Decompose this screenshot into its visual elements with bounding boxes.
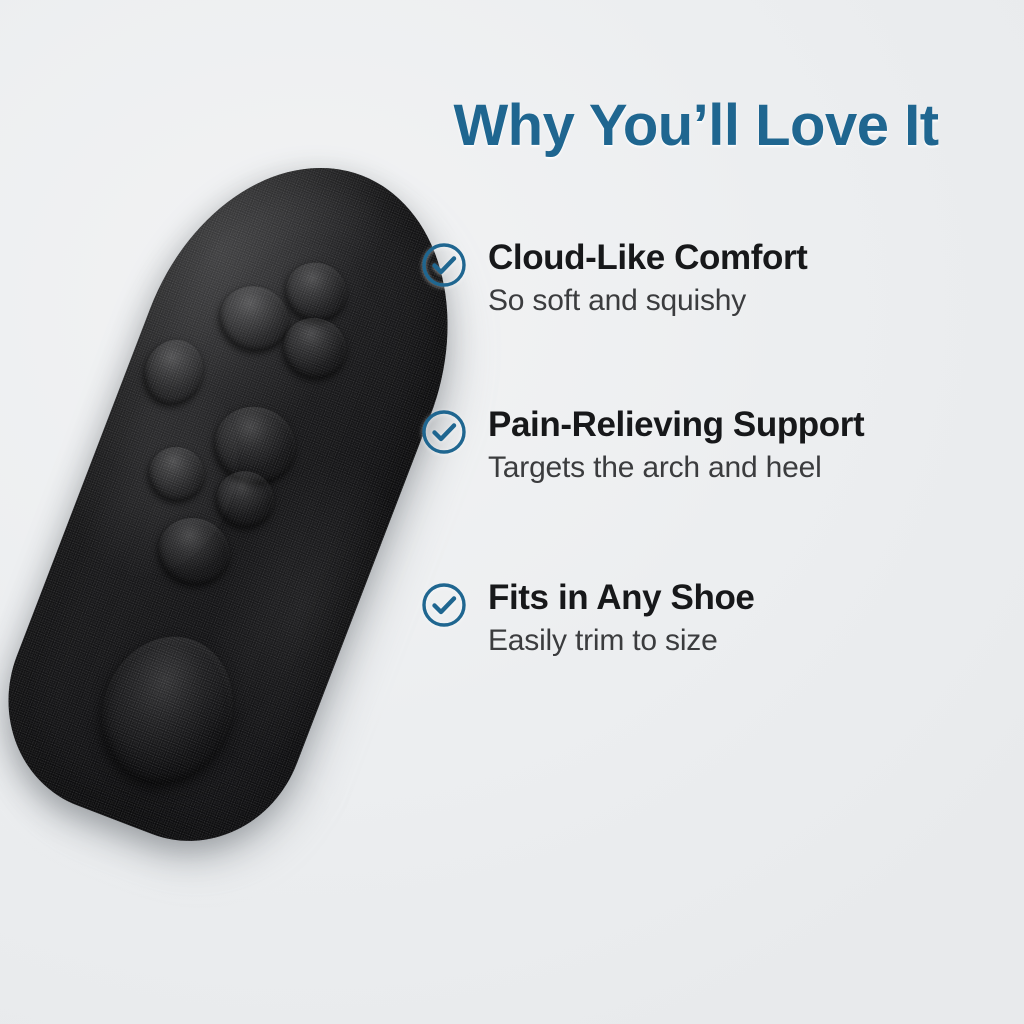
feature-text-block: Fits in Any Shoe Easily trim to size [488, 578, 1020, 659]
feature-item: Fits in Any Shoe Easily trim to size [420, 578, 1020, 659]
page-title: Why You’ll Love It [404, 96, 988, 157]
feature-subtitle: So soft and squishy [488, 283, 1020, 319]
feature-subtitle: Targets the arch and heel [488, 450, 1020, 486]
feature-item: Pain-Relieving Support Targets the arch … [420, 405, 1020, 486]
check-circle-icon [420, 581, 468, 629]
content-column: Why You’ll Love It Cloud-Like Comfort So… [404, 0, 1024, 1024]
feature-title: Pain-Relieving Support [488, 405, 1020, 444]
infographic-canvas: Why You’ll Love It Cloud-Like Comfort So… [0, 0, 1024, 1024]
feature-title: Fits in Any Shoe [488, 578, 1020, 617]
feature-title: Cloud-Like Comfort [488, 238, 1020, 277]
feature-item: Cloud-Like Comfort So soft and squishy [420, 238, 1020, 319]
feature-text-block: Cloud-Like Comfort So soft and squishy [488, 238, 1020, 319]
check-circle-icon [420, 241, 468, 289]
check-circle-icon [420, 408, 468, 456]
feature-text-block: Pain-Relieving Support Targets the arch … [488, 405, 1020, 486]
feature-subtitle: Easily trim to size [488, 623, 1020, 659]
